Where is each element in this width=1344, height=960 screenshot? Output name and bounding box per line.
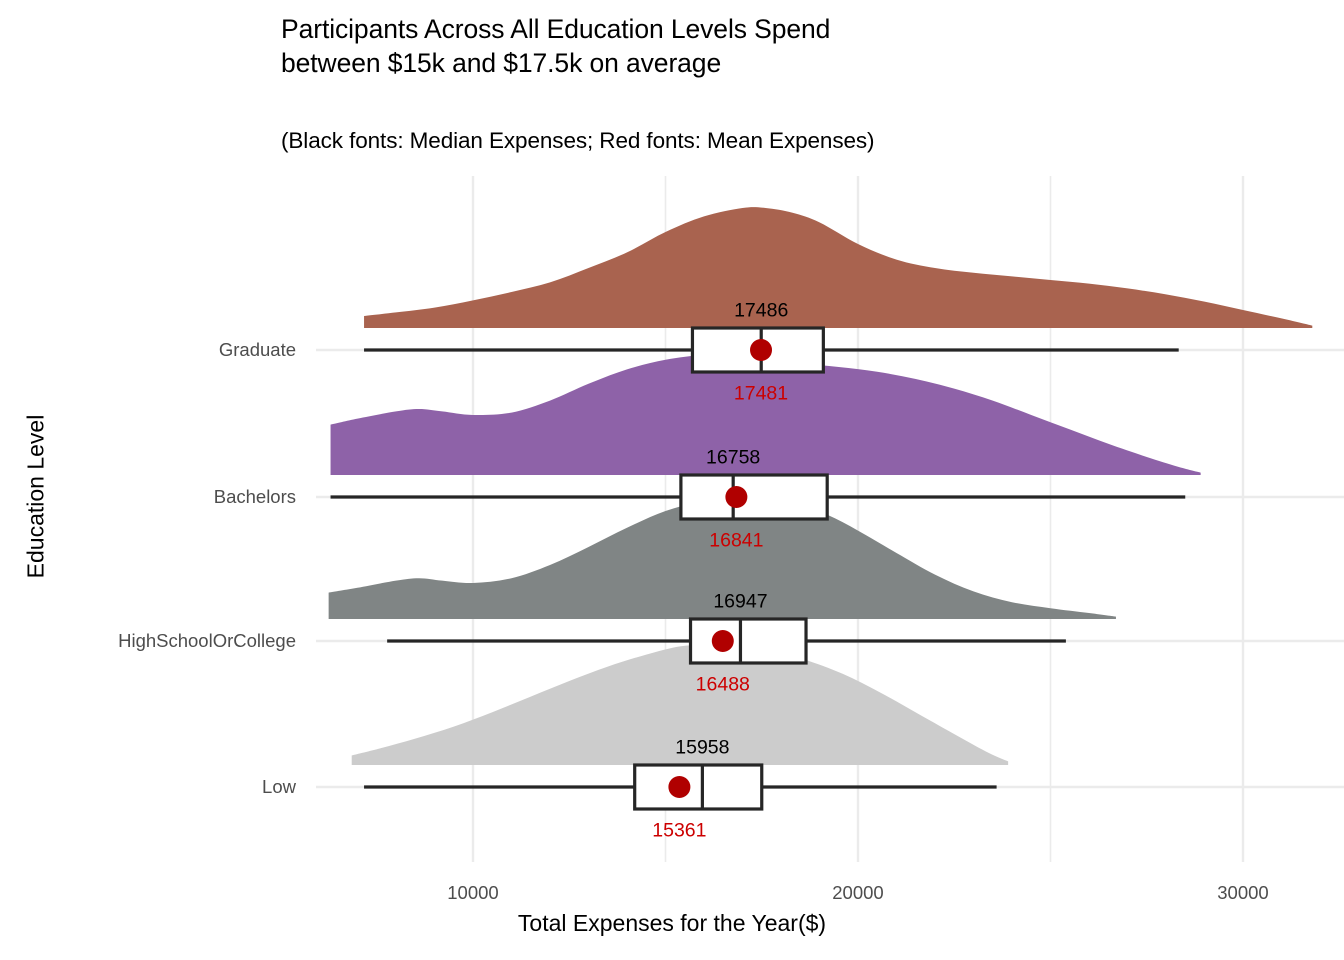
median-value-label-low: 15958	[675, 737, 729, 760]
mean-dot	[668, 776, 690, 798]
boxplot-bachelors	[331, 475, 1186, 519]
box-iqr	[635, 765, 762, 809]
x-tick-20000: 20000	[832, 882, 883, 904]
y-tick-highschoolorcollege: HighSchoolOrCollege	[0, 630, 306, 652]
y-tick-graduate: Graduate	[0, 339, 306, 361]
mean-value-label-graduate: 17481	[734, 383, 788, 406]
median-value-label-bachelors: 16758	[706, 447, 760, 470]
mean-value-label-low: 15361	[652, 820, 706, 843]
plot-panel	[316, 176, 1344, 862]
chart-title: Participants Across All Education Levels…	[281, 12, 1321, 81]
mean-value-label-bachelors: 16841	[709, 530, 763, 553]
y-tick-row: Low	[0, 787, 306, 809]
mean-dot	[712, 630, 734, 652]
raincloud-chart: Participants Across All Education Levels…	[0, 0, 1344, 960]
mean-dot	[725, 486, 747, 508]
y-tick-bachelors: Bachelors	[0, 486, 306, 508]
y-tick-low: Low	[0, 776, 306, 798]
density-cloud-graduate	[364, 207, 1312, 328]
boxplot-low	[364, 765, 997, 809]
y-tick-row: HighSchoolOrCollege	[0, 641, 306, 663]
y-tick-row: Graduate	[0, 350, 306, 372]
plot-canvas	[316, 176, 1344, 862]
chart-subtitle: (Black fonts: Median Expenses; Red fonts…	[281, 128, 874, 154]
x-axis-title: Total Expenses for the Year($)	[0, 910, 1344, 937]
boxplot-highschoolorcollege	[387, 619, 1066, 663]
x-tick-30000: 30000	[1217, 882, 1268, 904]
box-iqr	[691, 619, 807, 663]
title-block: Participants Across All Education Levels…	[281, 12, 1321, 81]
boxplot-graduate	[364, 328, 1179, 372]
median-value-label-graduate: 17486	[734, 300, 788, 323]
mean-dot	[750, 339, 772, 361]
mean-value-label-highschoolorcollege: 16488	[696, 674, 750, 697]
y-tick-row: Bachelors	[0, 497, 306, 519]
median-value-label-highschoolorcollege: 16947	[713, 591, 767, 614]
x-tick-10000: 10000	[447, 882, 498, 904]
box-iqr	[681, 475, 827, 519]
